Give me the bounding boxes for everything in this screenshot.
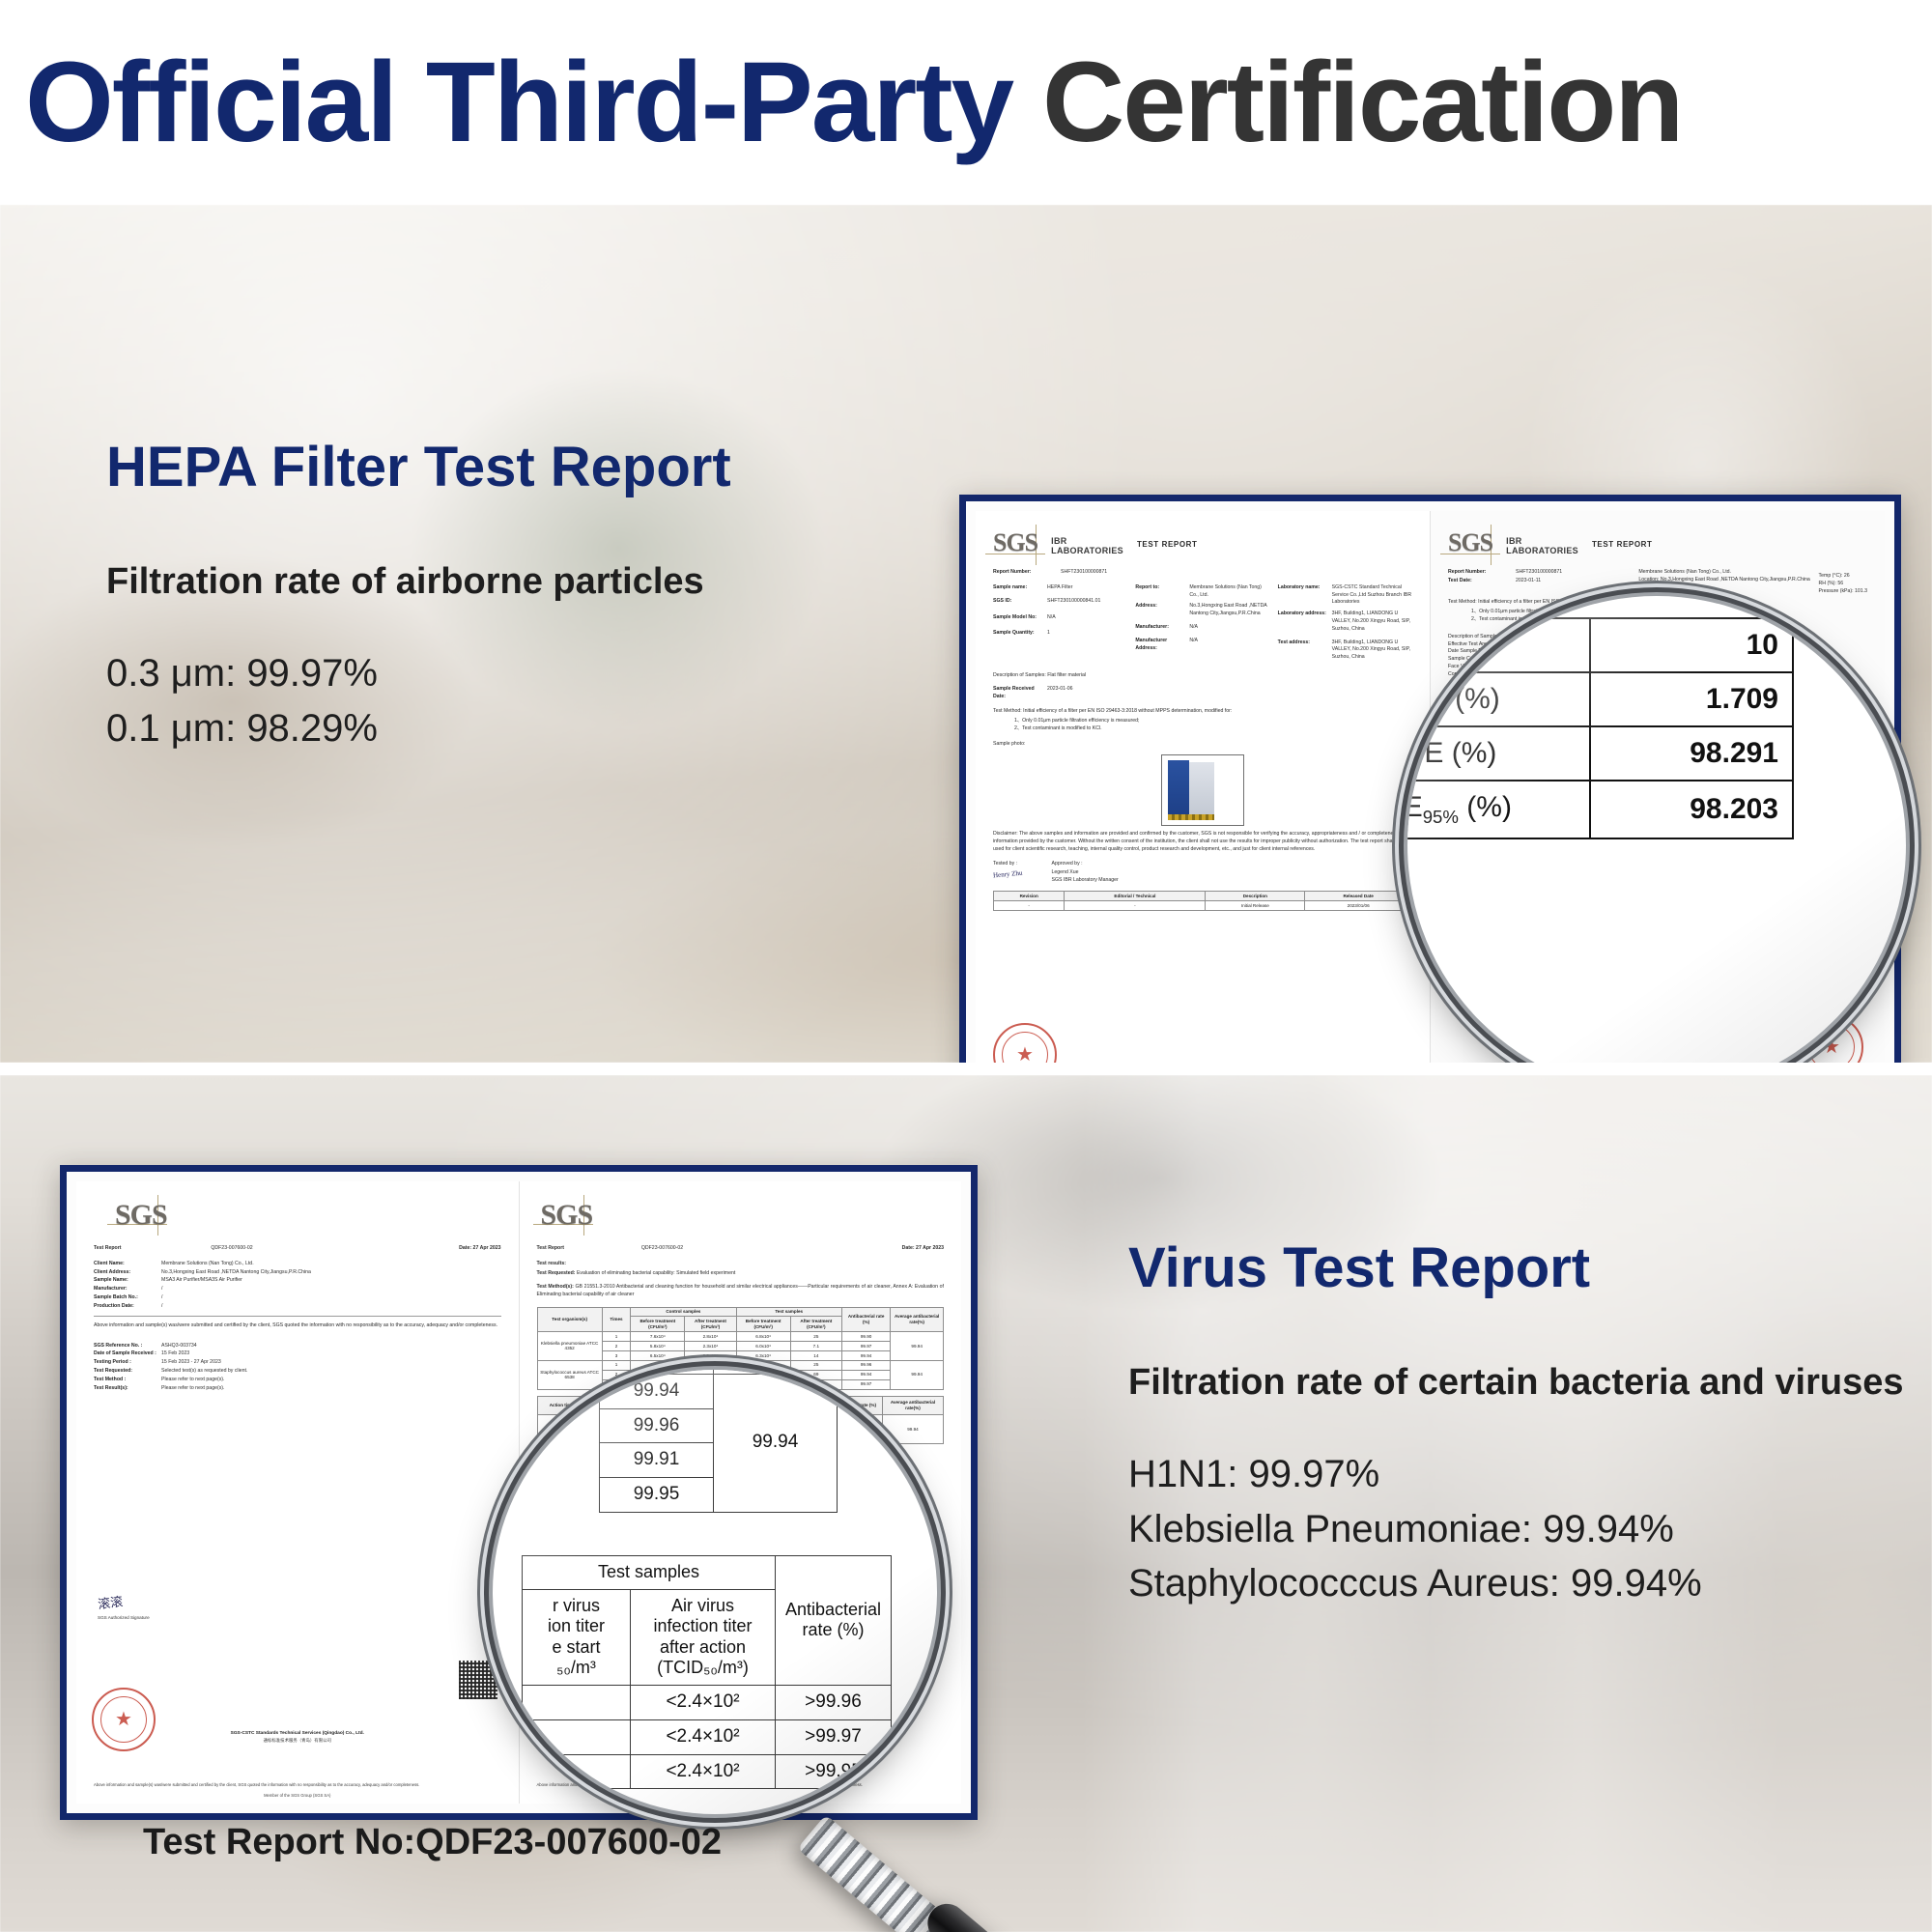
revision-cell: Initial Release — [1206, 901, 1305, 911]
table-subheader: After treatment (CFU/m³) — [685, 1317, 736, 1332]
field-key: Client Address: — [94, 1269, 157, 1277]
lab-name-line1: IBR — [1051, 536, 1123, 546]
tested-by-signature: Henry Zhu — [993, 867, 1023, 880]
magnified-value: 98.203 — [1590, 781, 1793, 838]
field-key: Manufacturer Address: — [1135, 638, 1185, 653]
cell: 2 — [602, 1342, 630, 1351]
field-key: Production Date: — [94, 1303, 157, 1311]
doc-type-label: TEST REPORT — [1592, 530, 1653, 549]
magnified-label: ciency E (%) — [1407, 726, 1590, 781]
doc-type-label: TEST REPORT — [1137, 530, 1198, 549]
doc-type-label: Test Report — [537, 1245, 605, 1253]
sample-description: Description of Samples: Flat filter mate… — [993, 672, 1412, 680]
magnified-label-sub: 95% — [1423, 807, 1459, 827]
cell: 7.1 — [790, 1342, 841, 1351]
table-row: Klebsiella pneumoniae ATCC 4352 1 7.6x10… — [537, 1332, 944, 1342]
table-row: - - Initial Release 2023/01/06 — [994, 901, 1412, 911]
virus-subheading: Filtration rate of certain bacteria and … — [1128, 1360, 1930, 1406]
table-subheader: Before treatment (CFU/m³) — [736, 1317, 790, 1332]
magnified-rate: 99.94 — [600, 1374, 714, 1408]
magnified-rate: >99.97 — [776, 1719, 892, 1754]
field-key: Laboratory name: — [1278, 584, 1328, 607]
field-value: Please refer to next page(s). — [161, 1377, 501, 1384]
table-header: Times — [602, 1307, 630, 1332]
field-value: MSA3 Air Purifier/MSA3S Air Purifier — [161, 1277, 501, 1285]
cell: 14 — [790, 1350, 841, 1360]
cell: 6.5x10⁴ — [631, 1350, 685, 1360]
virus-heading: Virus Test Report — [1128, 1239, 1930, 1298]
cell: 5.8x10⁴ — [631, 1342, 685, 1351]
approved-by-label: Approved by : — [1052, 861, 1119, 868]
virus-result-item: Klebsiella Pneumoniae: 99.94% — [1128, 1502, 1930, 1557]
cell: 25 — [790, 1360, 841, 1370]
cell: 2.5x10⁴ — [685, 1350, 736, 1360]
field-key: Client Name: — [94, 1261, 157, 1268]
cell: 1.4x10⁵ — [631, 1360, 685, 1370]
field-value: No.3,Hongxing East Road ,NETDA Nantong C… — [161, 1269, 501, 1277]
field-key: Report Number: — [993, 569, 1057, 577]
sample-photo — [1161, 754, 1244, 826]
field-key: Sample Model No: — [993, 614, 1043, 622]
average-rate: 99.94 — [891, 1360, 944, 1389]
field-value: 2023-01-06 — [1047, 686, 1412, 701]
table-row: ency E95% (%) 98.203 — [1407, 781, 1793, 838]
sgs-logo-block: SGS — [1448, 530, 1492, 555]
doc-report-no: QDF23-007600-02 — [169, 1245, 295, 1253]
table-header: Average antibacterial rate(%) — [891, 1307, 944, 1332]
pressure-value: Pressure (kPa): 101.3 — [1819, 588, 1867, 596]
table-row: 99.94 99.94 — [600, 1374, 838, 1408]
sgs-logo: SGS — [541, 1201, 593, 1230]
magnified-col-header: r virus ion titer e start ₅₀/m³ — [523, 1589, 631, 1685]
field-value: Please refer to next page(s). — [161, 1385, 501, 1393]
footer-company: SGS-CSTC Standards Technical Services (Q… — [94, 1731, 501, 1736]
table-header: Control samples — [631, 1307, 736, 1317]
revision-cell: - — [994, 901, 1065, 911]
cell: 1 — [602, 1360, 630, 1370]
approved-by-title: SGS IBR Laboratory Manager — [1052, 877, 1119, 885]
field-value: / — [161, 1286, 501, 1293]
magnified-rate: 99.96 — [600, 1408, 714, 1443]
magnified-rate: 99.91 — [600, 1443, 714, 1478]
magnifier-lens: 99.97 99.94 99.94 99.94 99.96 99.91 99.9 — [493, 1370, 937, 1814]
field-value: 1 — [1047, 630, 1127, 638]
field-key: Address: — [1135, 603, 1185, 618]
cell: 2.3x10⁴ — [685, 1342, 736, 1351]
average-rate: 99.94 — [882, 1415, 943, 1444]
revision-header: Description — [1206, 892, 1305, 901]
table-header: Antibacterial rate (%) — [841, 1307, 890, 1332]
page-title-dark: Certification — [1012, 39, 1682, 166]
cell — [523, 1685, 631, 1719]
magnified-label: netration (%) — [1407, 672, 1590, 726]
table-subheader: After treatment (CFU/m³) — [790, 1317, 841, 1332]
doc-report-no: QDF23-007600-02 — [605, 1245, 721, 1253]
cell: 6.8x10⁴ — [736, 1332, 790, 1342]
field-key: Test Method : — [94, 1377, 157, 1384]
field-value: Selected test(s) as requested by client. — [161, 1368, 501, 1376]
cell: 99.90 — [841, 1332, 890, 1342]
magnified-rate-table-upper: 99.97 99.94 99.94 99.94 99.96 99.91 99.9 — [599, 1370, 838, 1513]
magnified-label-tail: (%) — [1459, 791, 1512, 823]
test-method-value: GB 21551.3-2010 Antibacterial and cleani… — [537, 1284, 945, 1297]
revision-cell: 2023/01/06 — [1305, 901, 1412, 911]
magnified-average: 99.94 — [714, 1374, 838, 1512]
cell: 1.5x10⁵ — [736, 1360, 790, 1370]
temperature-value: Temp (°C): 26 — [1819, 573, 1867, 581]
average-rate: 99.94 — [891, 1332, 944, 1361]
cell: 99.94 — [841, 1350, 890, 1360]
field-value: N/A — [1189, 638, 1269, 653]
field-key: Manufacturer: — [94, 1286, 157, 1293]
revision-table: Revision Editorial / Technical Descripti… — [993, 891, 1412, 911]
field-value: ASHQ3-003734 — [161, 1343, 501, 1350]
virus-doc-page-left: SGS Test Report QDF23-007600-02 Date: 27… — [76, 1181, 519, 1804]
cell: 2.8x10⁴ — [685, 1332, 736, 1342]
magnified-value: 98.291 — [1590, 726, 1793, 781]
field-value: 2023-01-11 — [1516, 578, 1631, 585]
magnified-section-header: Test samples — [523, 1556, 776, 1590]
field-key: Date of Sample Received : — [94, 1350, 157, 1358]
field-key: Sample Received Date: — [993, 686, 1043, 701]
revision-header: Revision — [994, 892, 1065, 901]
organism-name: Klebsiella pneumoniae ATCC 4352 — [537, 1332, 602, 1361]
magnified-rate: 99.95 — [600, 1478, 714, 1513]
magnified-titer: <2.4×10² — [631, 1754, 776, 1789]
hepa-result-item: 0.1 μm: 98.29% — [106, 701, 898, 756]
tested-by-label: Tested by : — [993, 861, 1023, 868]
lab-name-line2: LABORATORIES — [1506, 546, 1578, 555]
test-requested-value: Evaluation of eliminating bacterial capa… — [577, 1270, 735, 1276]
field-value: 15 Feb 2023 - 27 Apr 2023 — [161, 1359, 501, 1367]
hepa-doc-page-left: SGS IBR LABORATORIES TEST REPORT Report … — [976, 511, 1430, 1063]
field-key: Sample Quantity: — [993, 630, 1043, 638]
hepa-result-item: 0.3 μm: 99.97% — [106, 646, 898, 701]
test-method-label: Test Method(s): — [537, 1284, 574, 1290]
sgs-logo: SGS — [115, 1201, 167, 1230]
sgs-logo-block: SGS — [115, 1201, 167, 1230]
field-value: 15 Feb 2023 — [161, 1350, 501, 1358]
red-seal-stamp: ★ — [993, 1023, 1057, 1063]
field-key: SGS Reference No. : — [94, 1343, 157, 1350]
cell: 3 — [602, 1350, 630, 1360]
cell: 6.3x10⁴ — [736, 1350, 790, 1360]
field-value: N/A — [1047, 614, 1127, 622]
sgs-logo-block: SGS — [541, 1201, 593, 1230]
cell: 7.6x10⁴ — [631, 1332, 685, 1342]
page-header: Official Third-Party Certification — [0, 0, 1932, 205]
magnified-titer: <2.4×10² — [631, 1719, 776, 1754]
table-subheader: Before treatment (CFU/m³) — [631, 1317, 685, 1332]
test-method-item: 2、Test contaminant is modified to KCl. — [993, 725, 1412, 733]
field-key: Test Result(s): — [94, 1385, 157, 1393]
hepa-text-block: HEPA Filter Test Report Filtration rate … — [106, 439, 898, 755]
field-key: Sample Name: — [94, 1277, 157, 1285]
disclaimer-text: Disclaimer: The above samples and inform… — [993, 830, 1412, 853]
virus-panel: SGS Test Report QDF23-007600-02 Date: 27… — [0, 1075, 1932, 1932]
test-results-label: Test results: — [537, 1261, 945, 1268]
cell: 99.97 — [841, 1342, 890, 1351]
field-value: No.3,Hongxing East Road ,NETDA Nantong C… — [1189, 603, 1269, 618]
cell: 99.96 — [841, 1360, 890, 1370]
field-key: Laboratory address: — [1278, 611, 1328, 633]
field-key: Testing Period : — [94, 1359, 157, 1367]
field-value: HEPA Filter — [1047, 584, 1127, 592]
qr-code — [459, 1661, 497, 1699]
field-value: 3HF, Building1, LIANDONG U VALLEY, No.20… — [1332, 639, 1412, 662]
field-key: Test Requested: — [94, 1368, 157, 1376]
field-key: Report Number: — [1448, 569, 1512, 577]
table-row: ciency E (%) 98.291 — [1407, 726, 1793, 781]
magnified-col-header: Air virus infection titer after action (… — [631, 1589, 776, 1685]
signature-label: SGS Authorized Signature — [98, 1615, 150, 1620]
organism-name: Staphylococcus aureus ATCC 6538 — [537, 1360, 602, 1389]
revision-header: Released Date — [1305, 892, 1412, 901]
virus-result-item: H1N1: 99.97% — [1128, 1447, 1930, 1502]
magnified-value: 10 — [1590, 618, 1793, 672]
hepa-doc-header: SGS IBR LABORATORIES TEST REPORT — [993, 530, 1412, 559]
field-value: Membrane Solutions (Nan Tong) Co., Ltd. — [161, 1261, 501, 1268]
magnified-label: ency E — [1407, 791, 1423, 823]
table-header: Action time — [537, 1396, 585, 1415]
table-row: <2.4×10² >99.95 — [523, 1754, 892, 1789]
cell — [523, 1754, 631, 1789]
magnified-value: 1.709 — [1590, 672, 1793, 726]
doc-date: Date: 27 Apr 2023 — [295, 1245, 501, 1253]
field-value: SHFT230100000841.01 — [1047, 598, 1127, 606]
doc-date: Date: 27 Apr 2023 — [721, 1245, 945, 1253]
sample-certification-note: Above information and sample(s) was/were… — [94, 1321, 501, 1329]
hepa-subheading: Filtration rate of airborne particles — [106, 559, 898, 606]
field-key: Sample name: — [993, 584, 1043, 592]
table-row: <2.4×10² >99.97 — [523, 1719, 892, 1754]
cell: 1 — [602, 1332, 630, 1342]
sgs-logo: SGS — [993, 530, 1037, 555]
footer-company-cn: 通标标准技术服务（青岛）有限公司 — [94, 1738, 501, 1744]
virus-text-block: Virus Test Report Filtration rate of cer… — [1128, 1239, 1930, 1611]
cell — [523, 1719, 631, 1754]
cell: 6.6x10⁴ — [685, 1360, 736, 1370]
magnified-rate: >99.96 — [776, 1685, 892, 1719]
table-header: Test samples — [736, 1307, 841, 1317]
field-key: Test Date: — [1448, 578, 1512, 585]
field-value: N/A — [1189, 624, 1269, 632]
page-title: Official Third-Party Certification — [0, 45, 1682, 159]
table-row: nstream 10 — [1407, 618, 1793, 672]
humidity-value: RH (%): 56 — [1819, 581, 1867, 588]
table-row: Test samples Antibacterial rate (%) — [523, 1556, 892, 1590]
field-value: / — [161, 1294, 501, 1302]
field-value: Membrane Solutions (Nan Tong) Co., Ltd. — [1189, 584, 1269, 600]
field-value: SGS-CSTC Standard Technical Service Co.,… — [1332, 584, 1412, 607]
field-key: Test address: — [1278, 639, 1328, 662]
table-row: netration (%) 1.709 — [1407, 672, 1793, 726]
test-method-intro: Test Method: Initial efficiency of a fil… — [993, 708, 1412, 716]
sample-photo-label: Sample photo: — [993, 741, 1412, 749]
approved-by-name: Legend Xue — [1052, 869, 1119, 877]
certification-infographic: Official Third-Party Certification SGS I… — [0, 0, 1932, 1932]
doc-type-label: Test Report — [94, 1245, 169, 1253]
table-row: Staphylococcus aureus ATCC 6538 1 1.4x10… — [537, 1360, 944, 1370]
field-value: SHFT230100000871 — [1061, 569, 1412, 577]
field-key: SGS ID: — [993, 598, 1043, 606]
hepa-doc-header-right: SGS IBR LABORATORIES TEST REPORT — [1448, 530, 1867, 559]
document-footer-text: Above information and sample(s) was/were… — [94, 1782, 501, 1788]
magnified-titer-table: Test samples Antibacterial rate (%) r vi… — [522, 1555, 892, 1789]
page-title-navy: Official Third-Party — [25, 39, 1012, 166]
authorized-signature-mark: 滚滚 — [97, 1588, 151, 1612]
revision-header: Editorial / Technical — [1065, 892, 1206, 901]
field-value: / — [161, 1303, 501, 1311]
footer-member: Member of the SGS Group (SGS SA) — [94, 1793, 501, 1798]
virus-report-number: Test Report No:QDF23-007600-02 — [143, 1822, 722, 1863]
field-value: 3HF, Building1, LIANDONG U VALLEY, No.20… — [1332, 611, 1412, 633]
cell: 99.97 — [841, 1379, 890, 1389]
hepa-heading: HEPA Filter Test Report — [106, 439, 898, 497]
field-key: Report to: — [1135, 584, 1185, 600]
cell: 25 — [790, 1332, 841, 1342]
table-row: <2.4×10² >99.96 — [523, 1685, 892, 1719]
magnified-label: nstream — [1407, 618, 1590, 672]
cell: 99.94 — [841, 1370, 890, 1379]
virus-result-item: Staphylococccus Aureus: 99.94% — [1128, 1556, 1930, 1611]
magnified-rate: >99.95 — [776, 1754, 892, 1789]
lab-name-line1: IBR — [1506, 536, 1578, 546]
magnified-label-composite: ency E95% (%) — [1407, 781, 1590, 838]
revision-cell: - — [1065, 901, 1206, 911]
test-method-item: 1、Only 0.01μm particle filtration effici… — [993, 718, 1412, 725]
lab-name-line2: LABORATORIES — [1051, 546, 1123, 555]
field-key: Manufacturer: — [1135, 624, 1185, 632]
magnified-titer: <2.4×10² — [631, 1685, 776, 1719]
magnified-col-header: Antibacterial rate (%) — [776, 1556, 892, 1686]
table-header: Average antibacterial rate(%) — [882, 1396, 943, 1415]
test-requested-label: Test Requested: — [537, 1270, 576, 1276]
table-header: Test organism(s) — [537, 1307, 602, 1332]
magnified-results-table: nstream 10 netration (%) 1.709 ciency E … — [1407, 617, 1794, 839]
hepa-panel: SGS IBR LABORATORIES TEST REPORT Report … — [0, 205, 1932, 1063]
sgs-logo: SGS — [1448, 530, 1492, 555]
field-key: Sample Batch No.: — [94, 1294, 157, 1302]
cell: 6.0x10⁴ — [736, 1342, 790, 1351]
field-value: SHFT230100000871 — [1516, 569, 1631, 577]
sgs-logo-block: SGS — [993, 530, 1037, 555]
panel-divider — [0, 1063, 1932, 1075]
